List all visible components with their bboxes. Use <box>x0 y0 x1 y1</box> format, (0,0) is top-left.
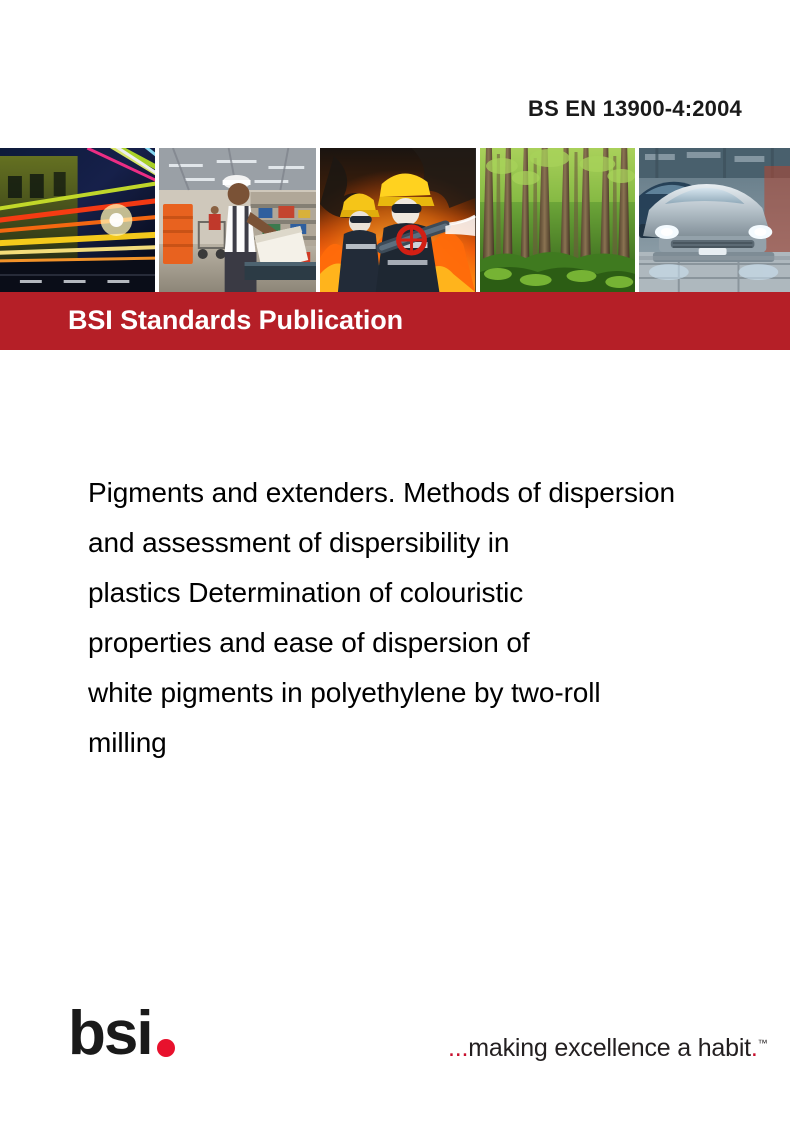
tagline-period: . <box>751 1034 758 1062</box>
cover-image-car-assembly-line <box>639 148 790 292</box>
cover-image-night-traffic-light-trails <box>0 148 155 292</box>
bsi-logo: bsi <box>68 1004 198 1066</box>
tagline-ellipsis: ... <box>448 1034 468 1062</box>
title-line: white pigments in polyethylene by two-ro… <box>88 668 800 718</box>
cover-image-strip <box>0 148 790 292</box>
page-title: Pigments and extenders. Methods of dispe… <box>88 468 800 768</box>
cover-image-firefighters <box>320 148 475 292</box>
title-line: properties and ease of dispersion of <box>88 618 800 668</box>
cover-image-forest <box>480 148 635 292</box>
tagline-text: making excellence a habit <box>468 1034 751 1062</box>
title-line: Pigments and extenders. Methods of dispe… <box>88 468 800 518</box>
banner-title: BSI Standards Publication <box>68 305 403 336</box>
bsi-logo-wordmark: bsi <box>68 1004 152 1066</box>
bsi-tagline: ...making excellence a habit.™ <box>448 1034 767 1063</box>
bsi-standards-publication-banner: BSI Standards Publication <box>0 292 790 350</box>
title-line: milling <box>88 718 800 768</box>
cover-image-warehouse-worker <box>159 148 316 292</box>
title-line: and assessment of dispersibility in <box>88 518 800 568</box>
trademark-symbol: ™ <box>758 1039 768 1050</box>
bsi-logo-dot <box>157 1039 175 1057</box>
document-number: BS EN 13900-4:2004 <box>0 96 742 122</box>
title-line: plastics Determination of colouristic <box>88 568 800 618</box>
